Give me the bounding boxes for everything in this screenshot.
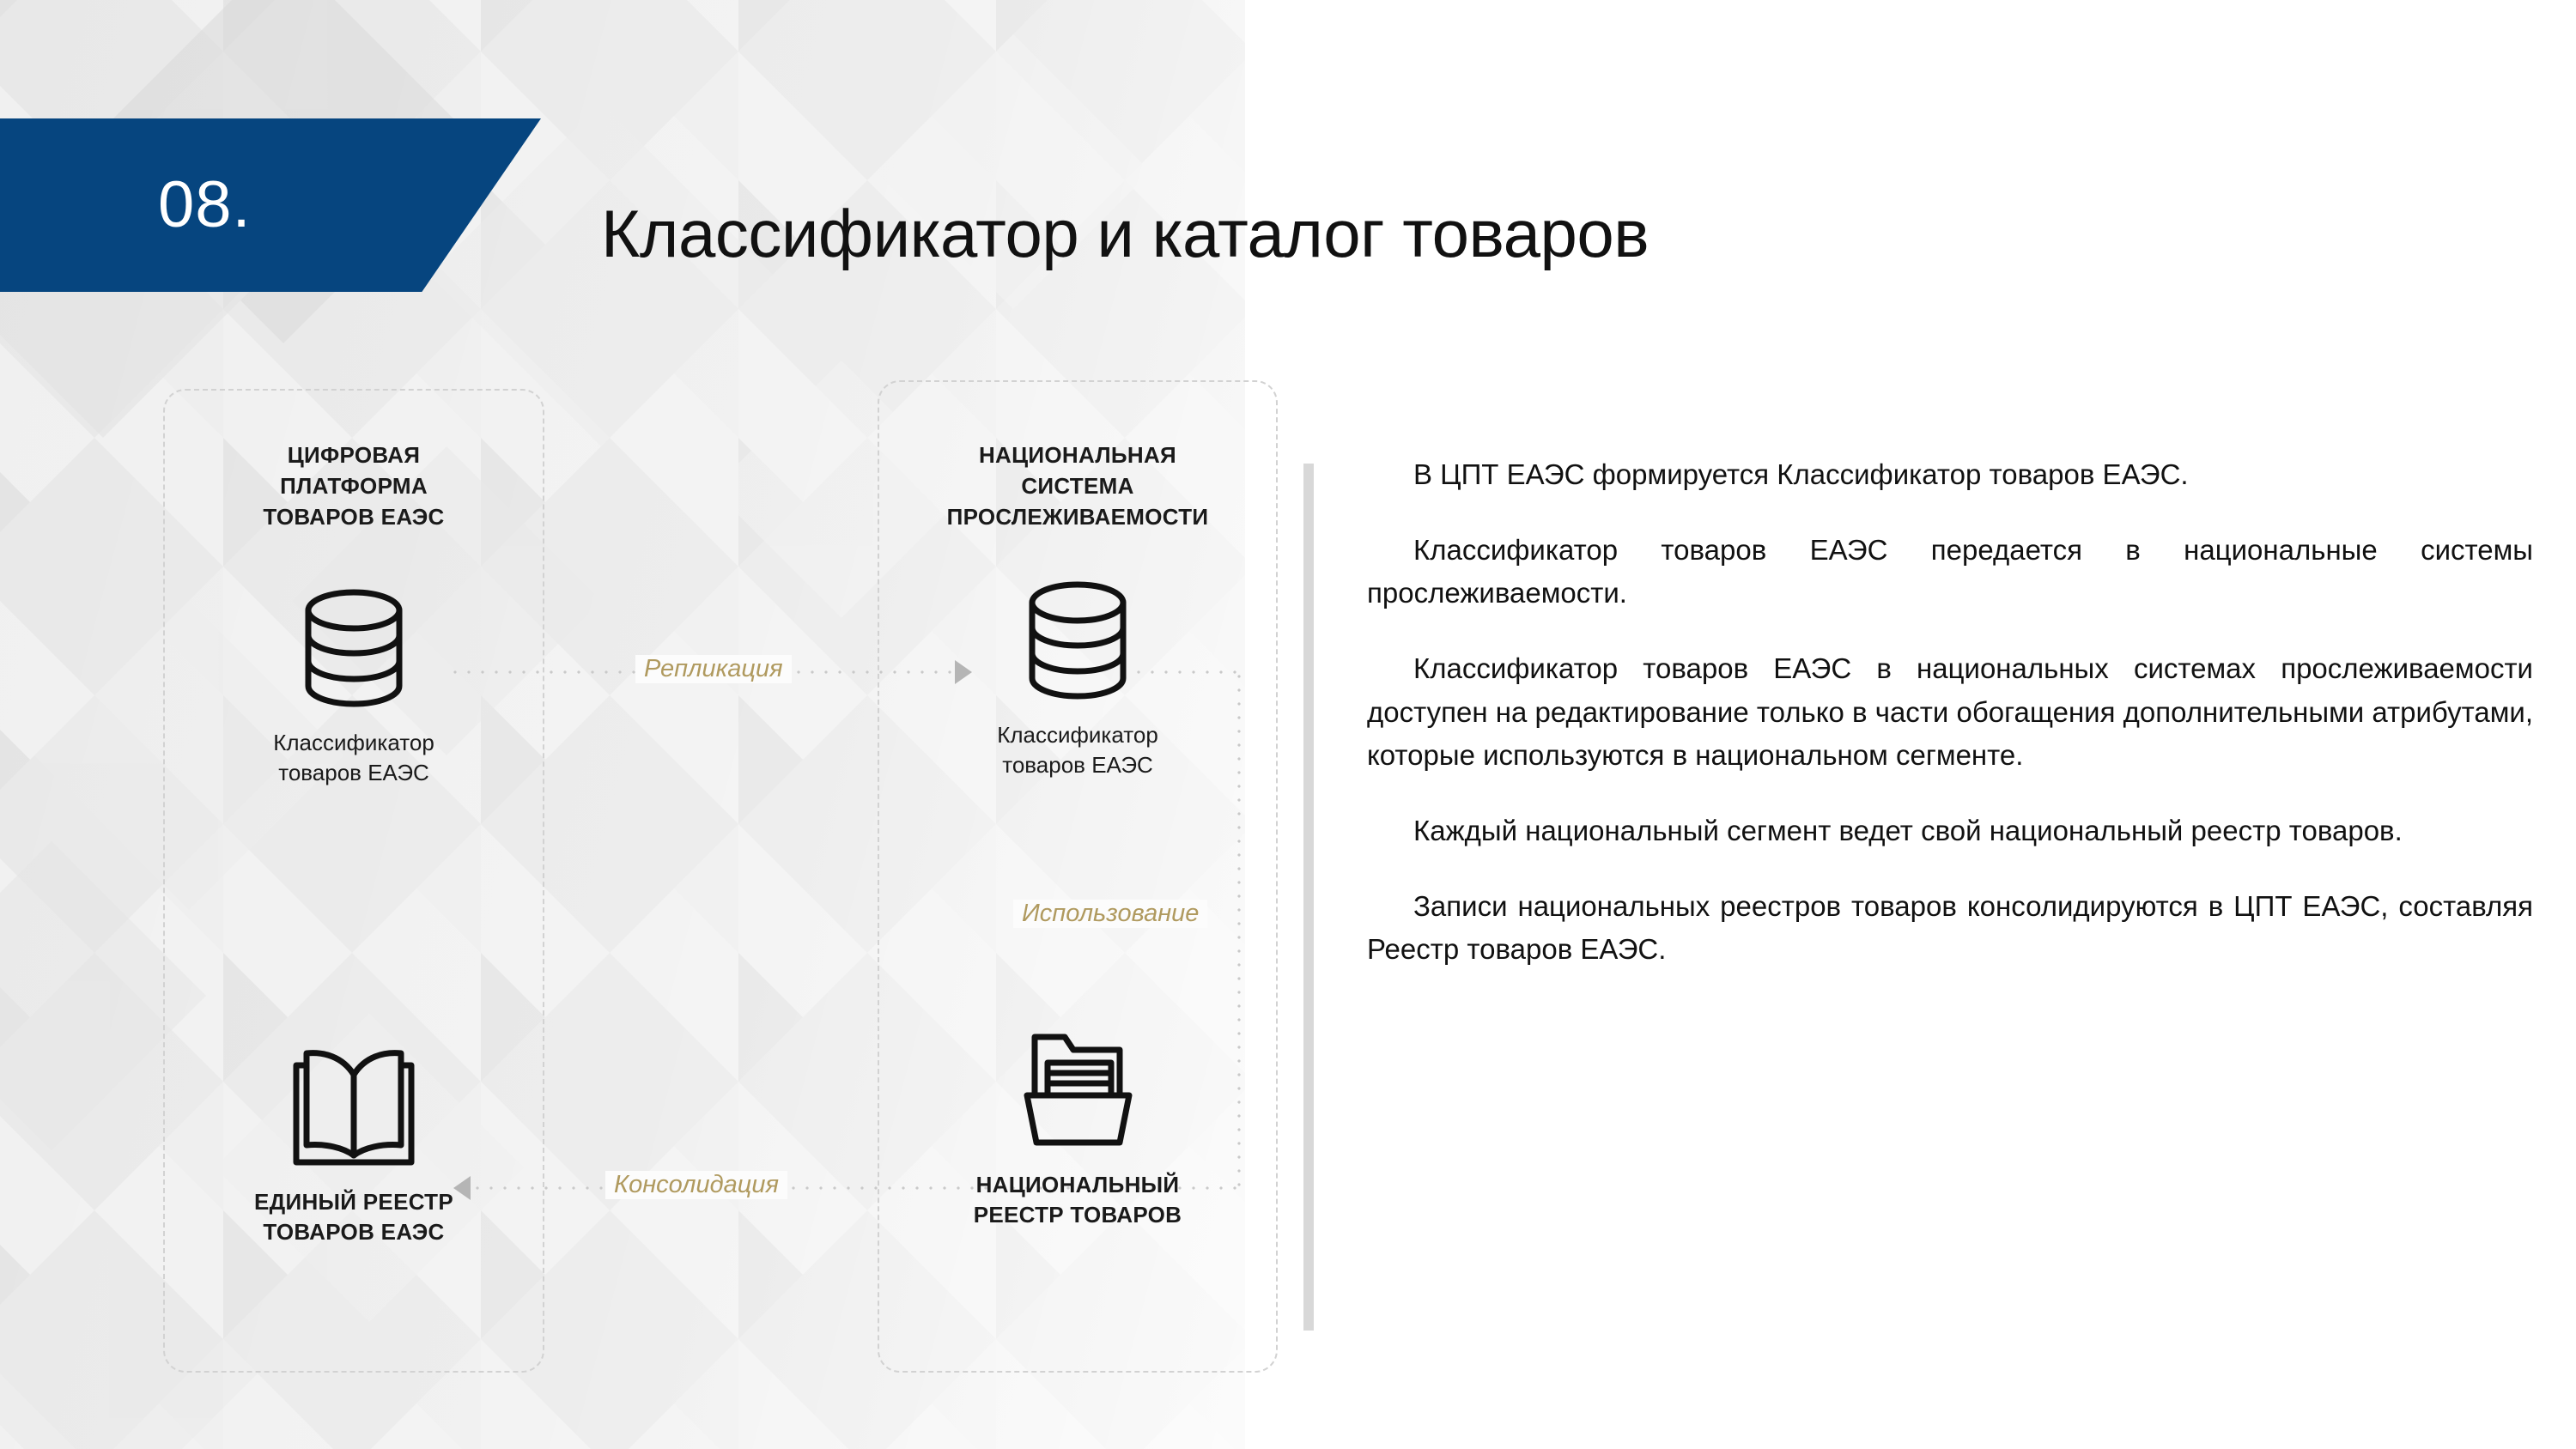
- body-paragraph-4: Каждый национальный сегмент ведет свой н…: [1367, 809, 2533, 852]
- caption-line-2: товаров ЕАЭС: [165, 758, 543, 788]
- panel-left-title-line-2: ПЛАТФОРМА: [165, 471, 543, 502]
- folder-documents-icon: [1012, 1022, 1145, 1155]
- caption-line-2: ТОВАРОВ ЕАЭС: [165, 1217, 543, 1247]
- panel-right-title: НАЦИОНАЛЬНАЯ СИСТЕМА ПРОСЛЕЖИВАЕМОСТИ: [879, 440, 1276, 533]
- caption-line-1: НАЦИОНАЛЬНЫЙ: [879, 1170, 1276, 1200]
- node-left-classifier: Классификатор товаров ЕАЭС: [165, 584, 543, 789]
- panel-right-title-line-1: НАЦИОНАЛЬНАЯ: [879, 440, 1276, 471]
- edge-label-replication: Репликация: [635, 655, 792, 683]
- body-paragraph-3: Классификатор товаров ЕАЭС в национальны…: [1367, 647, 2533, 776]
- panel-left-title-line-1: ЦИФРОВАЯ: [165, 440, 543, 471]
- node-right-classifier-caption: Классификатор товаров ЕАЭС: [879, 720, 1276, 781]
- slide-number: 08.: [158, 173, 252, 238]
- body-paragraph-2: Классификатор товаров ЕАЭС передается в …: [1367, 529, 2533, 615]
- body-paragraph-5: Записи национальных реестров товаров кон…: [1367, 885, 2533, 971]
- body-copy: В ЦПТ ЕАЭС формируется Классификатор тов…: [1367, 453, 2533, 971]
- caption-line-2: РЕЕСТР ТОВАРОВ: [879, 1200, 1276, 1230]
- node-right-national-registry: НАЦИОНАЛЬНЫЙ РЕЕСТР ТОВАРОВ: [879, 1022, 1276, 1231]
- edge-label-consolidation: Консолидация: [605, 1171, 787, 1199]
- body-paragraph-1: В ЦПТ ЕАЭС формируется Классификатор тов…: [1367, 453, 2533, 496]
- panel-left-title-line-3: ТОВАРОВ ЕАЭС: [165, 502, 543, 533]
- node-right-national-registry-caption: НАЦИОНАЛЬНЫЙ РЕЕСТР ТОВАРОВ: [879, 1170, 1276, 1231]
- node-left-classifier-caption: Классификатор товаров ЕАЭС: [165, 728, 543, 789]
- open-book-icon: [289, 1043, 418, 1172]
- node-left-unified-registry-caption: ЕДИНЫЙ РЕЕСТР ТОВАРОВ ЕАЭС: [165, 1187, 543, 1248]
- panel-national-traceability: НАЦИОНАЛЬНАЯ СИСТЕМА ПРОСЛЕЖИВАЕМОСТИ Кл…: [878, 380, 1278, 1373]
- node-left-unified-registry: ЕДИНЫЙ РЕЕСТР ТОВАРОВ ЕАЭС: [165, 1043, 543, 1248]
- panel-right-title-line-3: ПРОСЛЕЖИВАЕМОСТИ: [879, 502, 1276, 533]
- content-divider-rule: [1303, 464, 1314, 1331]
- panel-right-title-line-2: СИСТЕМА: [879, 471, 1276, 502]
- panel-left-title: ЦИФРОВАЯ ПЛАТФОРМА ТОВАРОВ ЕАЭС: [165, 440, 543, 533]
- slide-root: 08. Классификатор и каталог товаров Репл…: [0, 0, 2576, 1449]
- database-icon: [298, 584, 410, 712]
- caption-line-2: товаров ЕАЭС: [879, 750, 1276, 780]
- caption-line-1: Классификатор: [165, 728, 543, 758]
- caption-line-1: ЕДИНЫЙ РЕЕСТР: [165, 1187, 543, 1217]
- node-right-classifier: Классификатор товаров ЕАЭС: [879, 576, 1276, 781]
- caption-line-1: Классификатор: [879, 720, 1276, 750]
- panel-digital-platform: ЦИФРОВАЯ ПЛАТФОРМА ТОВАРОВ ЕАЭС Классифи…: [163, 389, 544, 1373]
- page-title: Классификатор и каталог товаров: [601, 195, 1649, 273]
- database-icon: [1022, 576, 1133, 705]
